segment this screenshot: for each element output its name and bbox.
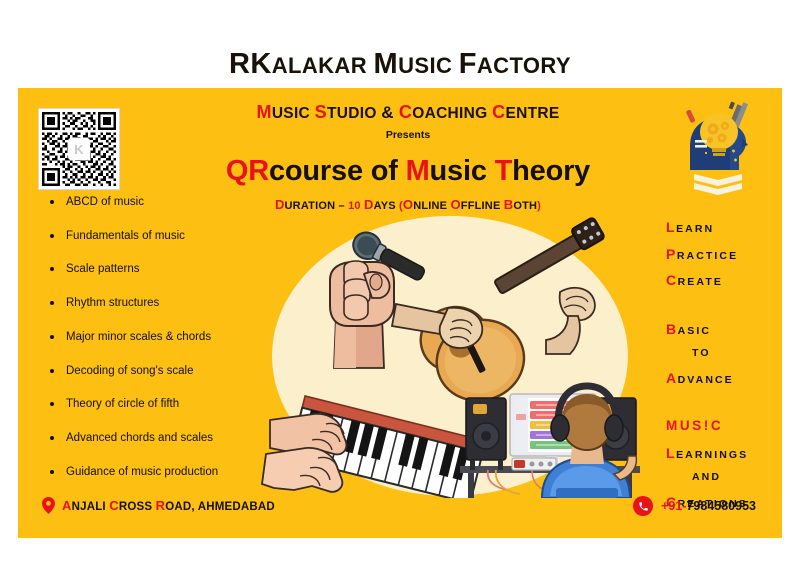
location-part-3: ROSS <box>119 501 156 513</box>
keyword-rest: EARNINGS <box>676 449 748 461</box>
keyword-rest: ASIC <box>678 325 712 337</box>
course-title-part-5: heory <box>512 155 590 187</box>
music-illustration <box>260 208 640 498</box>
keyword-music-word: MUS!C <box>666 419 782 433</box>
course-title-part-3: usic <box>430 155 495 187</box>
syllabus-item-label: ABCD of music <box>66 196 144 208</box>
syllabus-item: Rhythm structures <box>42 297 292 310</box>
studio-part-4: & <box>381 103 399 122</box>
location-pin-icon <box>42 497 55 514</box>
location-part-5: OAD, AHMEDABAD <box>165 501 275 513</box>
course-title-part-1: course of <box>269 155 406 187</box>
studio-part-3: TUDIO <box>327 105 381 122</box>
brand-title-part-1: K <box>250 48 271 80</box>
phone-local-number: 7984580953 <box>686 499 756 513</box>
phone-glyph <box>638 501 649 512</box>
location-part-0: A <box>62 498 72 513</box>
course-title-part-4: T <box>495 155 513 187</box>
syllabus-item-label: Decoding of song's scale <box>66 365 194 377</box>
location-row: ANJALI CROSS ROAD, AHMEDABAD <box>42 497 275 514</box>
syllabus-item-label: Fundamentals of music <box>66 230 185 242</box>
keyword-basic-advance-0: BASIC <box>666 322 782 337</box>
keyword-rest: EARN <box>676 223 714 235</box>
keyword-basic-advance-1: TO <box>666 348 782 359</box>
syllabus-item-label: Theory of circle of fifth <box>66 398 179 410</box>
brand-title-part-4: USIC <box>398 53 459 78</box>
keyword-learnings-creations-1: AND <box>666 472 782 483</box>
phone-number: +91-7984580953 <box>661 499 756 513</box>
presents-label: Presents <box>148 129 668 141</box>
syllabus-item: ABCD of music <box>42 196 292 209</box>
syllabus-item: Guidance of music production <box>42 466 292 479</box>
keywords-column: LEARNPRACTICECREATEBASICTOADVANCEMUS!CLE… <box>666 220 782 521</box>
keyword-lead-letter: B <box>666 321 678 337</box>
location-text: ANJALI CROSS ROAD, AHMEDABAD <box>62 498 275 513</box>
studio-tagline: MUSIC STUDIO & COACHING CENTRE <box>148 102 668 123</box>
keyword-lead-letter: P <box>666 246 677 262</box>
keyword-rest: TO <box>692 347 711 359</box>
course-title: QRcourse of Music Theory <box>148 155 668 188</box>
masthead: RKALAKAR MUSIC FACTORY <box>0 40 800 88</box>
keyword-basic-advance-2: ADVANCE <box>666 371 782 386</box>
syllabus-item-label: Guidance of music production <box>66 466 218 478</box>
location-part-1: NJALI <box>72 501 110 513</box>
studio-part-2: S <box>315 102 327 122</box>
keyword-group-spacer <box>666 300 782 322</box>
syllabus-item: Scale patterns <box>42 263 292 276</box>
keyword-lpc-0: LEARN <box>666 220 782 235</box>
location-part-4: R <box>156 498 166 513</box>
keyword-lead-letter: L <box>666 445 676 461</box>
syllabus-item: Fundamentals of music <box>42 230 292 243</box>
keyword-learnings-creations-0: LEARNINGS <box>666 446 782 461</box>
poster-panel: K MUSIC STUDIO & COACHING CENTRE Present… <box>18 88 782 538</box>
studio-part-6: OACHING <box>412 105 492 122</box>
brand-title-part-6: ACTORY <box>477 53 571 78</box>
course-title-part-2: M <box>406 155 430 187</box>
studio-part-8: ENTRE <box>505 105 559 122</box>
syllabus-item: Decoding of song's scale <box>42 365 292 378</box>
head-lightbulb-icon <box>672 96 764 196</box>
syllabus-item-label: Scale patterns <box>66 263 140 275</box>
brand-title-part-3: M <box>374 48 399 80</box>
syllabus-item: Theory of circle of fifth <box>42 398 292 411</box>
phone-country-code: +91- <box>661 499 686 513</box>
course-title-part-0: QR <box>226 155 269 187</box>
qr-code[interactable]: K <box>38 108 120 190</box>
syllabus-list: ABCD of musicFundamentals of musicScale … <box>42 196 292 499</box>
keyword-group-spacer <box>666 397 782 419</box>
keyword-lead-letter: C <box>666 272 678 288</box>
brand-title: RKALAKAR MUSIC FACTORY <box>229 48 571 81</box>
creative-mind-logo <box>672 96 764 196</box>
phone-row[interactable]: +91-7984580953 <box>633 496 756 516</box>
syllabus-item-label: Advanced chords and scales <box>66 432 213 444</box>
brand-title-part-0: R <box>229 48 250 80</box>
syllabus-item-label: Major minor scales & chords <box>66 331 211 343</box>
keyword-lpc-1: PRACTICE <box>666 247 782 262</box>
keyword-rest: AND <box>692 471 721 483</box>
studio-part-0: M <box>257 102 272 122</box>
studio-part-1: USIC <box>272 105 315 122</box>
keyword-rest: REATE <box>678 276 723 288</box>
brand-title-part-5: F <box>459 48 477 80</box>
syllabus-item: Major minor scales & chords <box>42 331 292 344</box>
keyword-lpc-2: CREATE <box>666 273 782 288</box>
keyword-rest: RACTICE <box>677 250 738 262</box>
keyword-rest: DVANCE <box>678 374 734 386</box>
syllabus-item: Advanced chords and scales <box>42 432 292 445</box>
phone-icon <box>633 496 653 516</box>
qr-canvas: K <box>42 112 116 186</box>
keyword-lead-letter: A <box>666 370 678 386</box>
studio-part-7: C <box>492 102 505 122</box>
syllabus-item-label: Rhythm structures <box>66 297 159 309</box>
studio-part-5: C <box>399 102 412 122</box>
location-part-2: C <box>109 498 119 513</box>
poster-page: RKALAKAR MUSIC FACTORY <box>0 0 800 566</box>
brand-title-part-2: ALAKAR <box>272 53 374 78</box>
music-collage-art <box>260 208 640 498</box>
keyword-lead-letter: L <box>666 219 676 235</box>
qr-center-logo: K <box>68 138 90 160</box>
